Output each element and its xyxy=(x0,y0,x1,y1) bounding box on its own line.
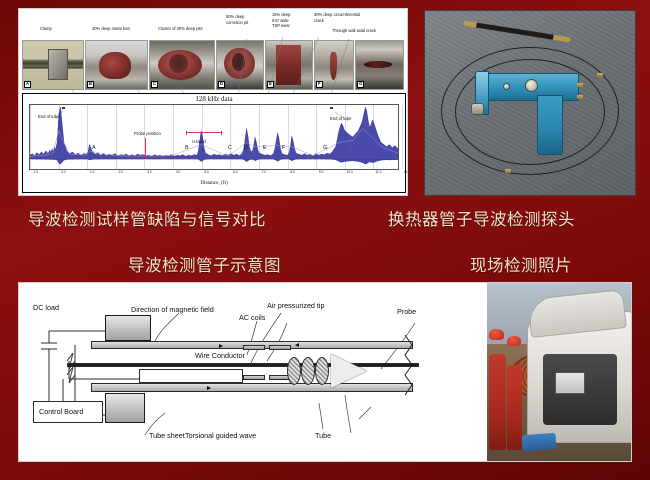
defect-tag-e: E xyxy=(267,81,274,88)
defect-caption-f: 30% deep circumferential crack xyxy=(314,12,360,23)
defect-tag-a: A xyxy=(24,81,31,88)
defect-tag-b: B xyxy=(87,81,94,88)
bottom-figure-panel: DC load xyxy=(18,282,632,462)
worker-left-helmet xyxy=(489,329,504,340)
caption-top-left: 导波检测试样管缺陷与信号对比 xyxy=(28,206,266,230)
guided-wave-probe-photo xyxy=(424,10,636,196)
probe-end-cap xyxy=(471,103,484,115)
peak-label-f: F xyxy=(282,145,285,151)
chart-x-tick: 2.0 xyxy=(119,170,123,174)
peak-label-d: D xyxy=(244,145,248,151)
chart-x-tick: 11.0 xyxy=(375,170,381,174)
torsional-wave-label: Torsional guided wave xyxy=(185,431,256,440)
peak-label-e: E xyxy=(263,145,267,151)
defect-caption-a: Clamp xyxy=(40,26,52,32)
defect-tag-f: F xyxy=(316,81,323,88)
chart-plot-area: End of tube End of tube Probe position U… xyxy=(29,104,399,170)
peak-label-b: B xyxy=(185,145,189,151)
defect-tag-d: D xyxy=(218,81,225,88)
ac-coils-label: AC coils xyxy=(239,313,265,322)
chart-x-axis: -1.00.01.02.03.04.05.06.07.08.09.010.011… xyxy=(29,170,399,179)
field-inspection-photo xyxy=(487,283,631,461)
defect-caption-c: Cluster of 30% deep pits xyxy=(158,26,203,32)
tube-label: Tube xyxy=(315,431,331,440)
guided-wave-schematic: DC load xyxy=(19,283,487,461)
chart-title: 128 kHz data xyxy=(23,94,405,103)
slide-root: Clamp 20% deep metal loss Cluster of 30%… xyxy=(0,0,650,480)
chart-x-tick: 9.0 xyxy=(319,170,323,174)
chart-x-tick: 0.0 xyxy=(61,170,65,174)
peak-label-c: C xyxy=(228,145,232,151)
air-tip-label: Air pressurized tip xyxy=(267,301,325,310)
magnetic-field-label: Direction of magnetic field xyxy=(131,305,214,314)
blue-stool xyxy=(521,433,556,451)
peak-label-a: A xyxy=(92,145,96,151)
defect-photo-a: A xyxy=(22,40,84,90)
worker-right xyxy=(507,365,522,450)
probe-connector-1 xyxy=(577,83,583,87)
defect-photo-c: C xyxy=(149,40,215,90)
chart-gridline xyxy=(402,105,403,169)
laptop-screen xyxy=(555,372,585,394)
guided-wave-chart: 128 kHz data End of tube End of tube Pro… xyxy=(22,93,406,193)
probe-knob xyxy=(503,83,510,90)
cable-ferrule-bottom xyxy=(505,169,511,173)
chart-x-tick: 7.0 xyxy=(262,170,266,174)
cable-ferrule-right xyxy=(597,73,603,77)
defect-tag-c: C xyxy=(151,81,158,88)
caption-bottom-right: 现场检测照片 xyxy=(470,252,572,276)
worker-right-helmet xyxy=(507,336,521,346)
defect-caption-row: Clamp 20% deep metal loss Cluster of 30%… xyxy=(22,12,404,42)
chart-x-tick: 6.0 xyxy=(233,170,237,174)
defect-photo-g: G xyxy=(355,40,404,90)
defect-photos: A B C D E F G xyxy=(22,40,404,90)
chart-x-tick: 12.0 xyxy=(404,170,410,174)
defect-caption-e: 15% deep 0.5" wide TSP wear xyxy=(272,12,290,29)
defect-photo-e: E xyxy=(265,40,313,90)
defect-photo-b: B xyxy=(85,40,148,90)
chart-x-tick: 1.0 xyxy=(90,170,94,174)
caption-bottom-left: 导波检测管子示意图 xyxy=(128,252,281,276)
chart-x-tick: 4.0 xyxy=(176,170,180,174)
chart-x-tick: 8.0 xyxy=(290,170,294,174)
worker-left xyxy=(489,354,506,450)
defect-photo-d: D xyxy=(216,40,264,90)
chart-x-axis-label: Distance, (ft) xyxy=(23,180,405,186)
callout-leader-lines xyxy=(30,105,402,171)
defect-photo-f: F xyxy=(314,40,354,90)
defect-caption-d: 50% deep corrosion pit xyxy=(226,14,248,25)
caption-top-right: 换热器管子导波检测探头 xyxy=(388,206,575,230)
probe-connector-2 xyxy=(577,95,583,99)
defect-caption-g: Through wall axial crack xyxy=(332,28,376,34)
defect-caption-b: 20% deep metal loss xyxy=(92,26,130,32)
tube-sheet-label: Tube sheet xyxy=(149,431,185,440)
chart-x-tick: -1.0 xyxy=(32,170,38,174)
probe-handle xyxy=(537,95,563,155)
peak-label-g: G xyxy=(323,145,327,151)
chart-x-tick: 5.0 xyxy=(204,170,208,174)
defect-photo-strip: Clamp 20% deep metal loss Cluster of 30%… xyxy=(22,12,404,90)
probe-pressure-dial xyxy=(525,79,538,92)
defect-tag-g: G xyxy=(357,81,364,88)
chart-x-tick: 3.0 xyxy=(147,170,151,174)
guided-wave-figure-panel: Clamp 20% deep metal loss Cluster of 30%… xyxy=(18,8,408,196)
chart-x-tick: 10.0 xyxy=(347,170,353,174)
probe-label: Probe xyxy=(397,307,416,316)
